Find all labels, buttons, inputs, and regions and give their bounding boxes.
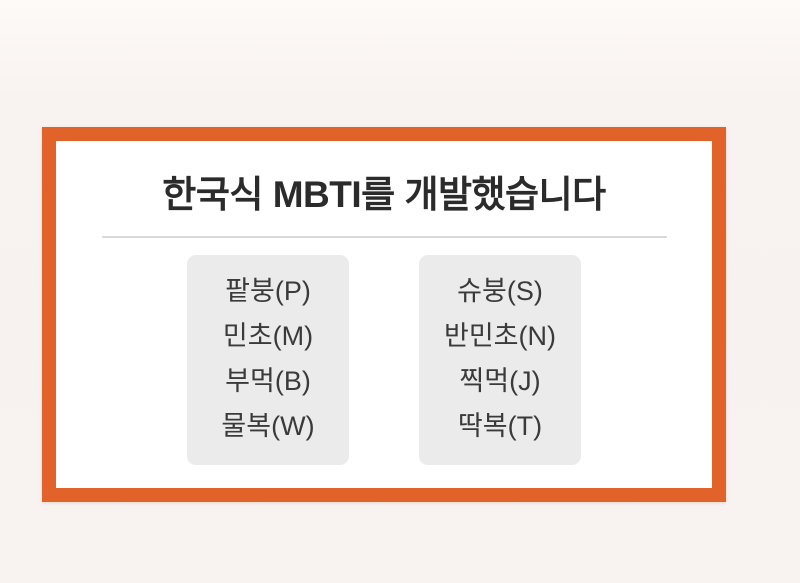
option-item-s: 슈붕(S) — [457, 269, 543, 314]
page-title: 한국식 MBTI를 개발했습니다 — [162, 175, 605, 216]
option-column-right: 슈붕(S) 반민초(N) 찍먹(J) 딱복(T) — [419, 255, 581, 465]
option-item-w: 물복(W) — [221, 404, 314, 449]
title-divider — [102, 236, 667, 238]
option-item-j: 찍먹(J) — [459, 359, 540, 404]
poster-orange-frame: 한국식 MBTI를 개발했습니다 팥붕(P) 민초(M) 부먹(B) 물복(W)… — [42, 127, 726, 502]
option-item-t: 딱복(T) — [458, 404, 542, 449]
options-columns: 팥붕(P) 민초(M) 부먹(B) 물복(W) 슈붕(S) 반민초(N) 찍먹(… — [187, 255, 581, 465]
option-column-left: 팥붕(P) 민초(M) 부먹(B) 물복(W) — [187, 255, 349, 465]
option-item-p: 팥붕(P) — [225, 269, 311, 314]
poster-card: 한국식 MBTI를 개발했습니다 팥붕(P) 민초(M) 부먹(B) 물복(W)… — [56, 141, 712, 488]
option-item-b: 부먹(B) — [225, 359, 311, 404]
option-item-n: 반민초(N) — [444, 314, 556, 359]
option-item-m: 민초(M) — [223, 314, 313, 359]
